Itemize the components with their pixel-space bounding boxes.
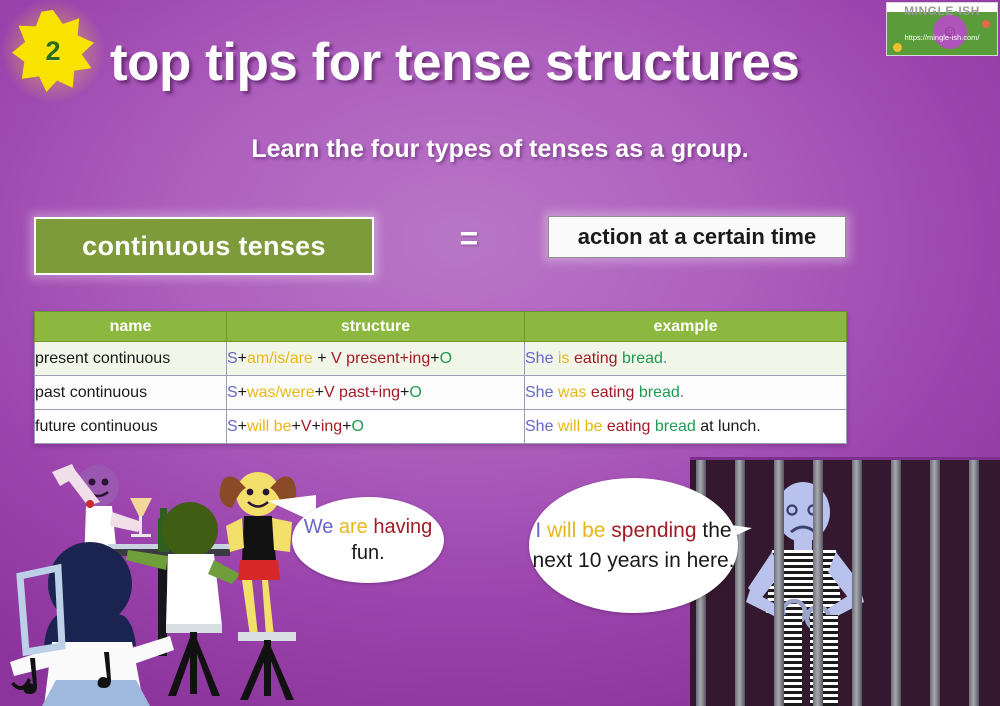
logo-dot-yellow-icon <box>893 43 902 52</box>
text-token: will be <box>547 519 605 542</box>
text-token: + <box>238 384 247 401</box>
prisoner-speech-text: I will be spending the next 10 years in … <box>529 516 738 576</box>
text-token: + <box>291 418 300 435</box>
tense-meaning-box: action at a certain time <box>548 216 846 258</box>
text-token: fun. <box>351 542 384 564</box>
party-speech-bubble: We are having fun. <box>292 497 444 583</box>
logo-dot-red-icon <box>982 20 990 28</box>
cell-tense-name: past continuous <box>35 376 227 410</box>
jail-illustration <box>690 457 1000 706</box>
cell-tense-name: present continuous <box>35 342 227 376</box>
jail-bar <box>930 460 940 706</box>
text-token: bread <box>622 350 663 367</box>
table-body: present continuousS+am/is/are + V presen… <box>35 342 847 444</box>
text-token: She <box>525 418 553 435</box>
table-header-row: name structure example <box>35 312 847 342</box>
text-token: She <box>525 384 553 401</box>
text-token: bread <box>639 384 680 401</box>
site-logo[interactable]: MINGLE-ISH ☺ https://mingle-ish.com/ <box>886 2 998 56</box>
text-token: eating <box>574 350 618 367</box>
column-header-name: name <box>35 312 227 342</box>
logo-url-text: https://mingle-ish.com/ <box>887 33 997 42</box>
text-token: at lunch. <box>696 418 761 435</box>
text-token: having <box>373 516 432 538</box>
text-token: We <box>304 516 334 538</box>
column-header-example: example <box>525 312 847 342</box>
tense-name-box: continuous tenses <box>34 217 374 275</box>
text-token: ing <box>321 418 342 435</box>
text-token: am/is/are <box>247 350 313 367</box>
text-token: + <box>430 350 439 367</box>
text-token: She <box>525 350 553 367</box>
tense-meaning-label: action at a certain time <box>578 224 816 250</box>
text-token: bread <box>655 418 696 435</box>
slide-canvas: 2 top tips for tense structures Learn th… <box>0 0 1000 706</box>
cell-structure: S+am/is/are + V present+ing+O <box>227 342 525 376</box>
party-speech-text: We are having fun. <box>292 514 444 566</box>
page-subtitle: Learn the four types of tenses as a grou… <box>0 135 1000 164</box>
text-token: + <box>313 350 331 367</box>
text-token: O <box>352 418 364 435</box>
text-token: spending <box>611 519 696 542</box>
table-row: future continuousS+will be+V+ing+OShe wi… <box>35 410 847 444</box>
text-token: + <box>312 418 321 435</box>
text-token: + <box>238 350 247 367</box>
jail-bar <box>813 460 823 706</box>
cell-example: She is eating bread. <box>525 342 847 376</box>
text-token: V <box>301 418 312 435</box>
text-token: are <box>339 516 368 538</box>
jail-bar <box>891 460 901 706</box>
party-illustration <box>0 456 300 706</box>
text-token: O <box>409 384 421 401</box>
jail-bar <box>969 460 979 706</box>
prisoner-speech-bubble: I will be spending the next 10 years in … <box>529 478 738 613</box>
table-row: present continuousS+am/is/are + V presen… <box>35 342 847 376</box>
cell-example: She will be eating bread at lunch. <box>525 410 847 444</box>
text-token: is <box>558 350 570 367</box>
cell-tense-name: future continuous <box>35 410 227 444</box>
text-token: will be <box>558 418 602 435</box>
equals-sign: = <box>447 220 491 257</box>
jail-bar <box>852 460 862 706</box>
text-token: was/were <box>247 384 315 401</box>
text-token: will be <box>247 418 291 435</box>
cell-example: She was eating bread. <box>525 376 847 410</box>
text-token: + <box>400 384 409 401</box>
text-token: eating <box>607 418 651 435</box>
text-token: S <box>227 350 238 367</box>
text-token: eating <box>591 384 635 401</box>
text-token: S <box>227 384 238 401</box>
text-token: V present+ing <box>331 350 430 367</box>
tense-name-label: continuous tenses <box>82 231 326 262</box>
jail-bar <box>774 460 784 706</box>
text-token: was <box>558 384 586 401</box>
party-figures <box>10 464 296 706</box>
text-token: S <box>227 418 238 435</box>
jail-bar <box>735 460 745 706</box>
cell-structure: S+will be+V+ing+O <box>227 410 525 444</box>
text-token: . <box>680 384 684 401</box>
text-token: . <box>663 350 667 367</box>
text-token: + <box>342 418 351 435</box>
badge-star: 2 <box>8 6 98 96</box>
smiley-face-icon: ☺ <box>933 15 967 49</box>
badge-number: 2 <box>8 6 98 96</box>
text-token: O <box>440 350 452 367</box>
column-header-structure: structure <box>227 312 525 342</box>
text-token: V past+ing <box>324 384 400 401</box>
cell-structure: S+was/were+V past+ing+O <box>227 376 525 410</box>
text-token: + <box>238 418 247 435</box>
text-token: + <box>315 384 324 401</box>
tense-structure-table: name structure example present continuou… <box>34 311 847 444</box>
page-title: top tips for tense structures <box>110 32 940 93</box>
table-row: past continuousS+was/were+V past+ing+OSh… <box>35 376 847 410</box>
